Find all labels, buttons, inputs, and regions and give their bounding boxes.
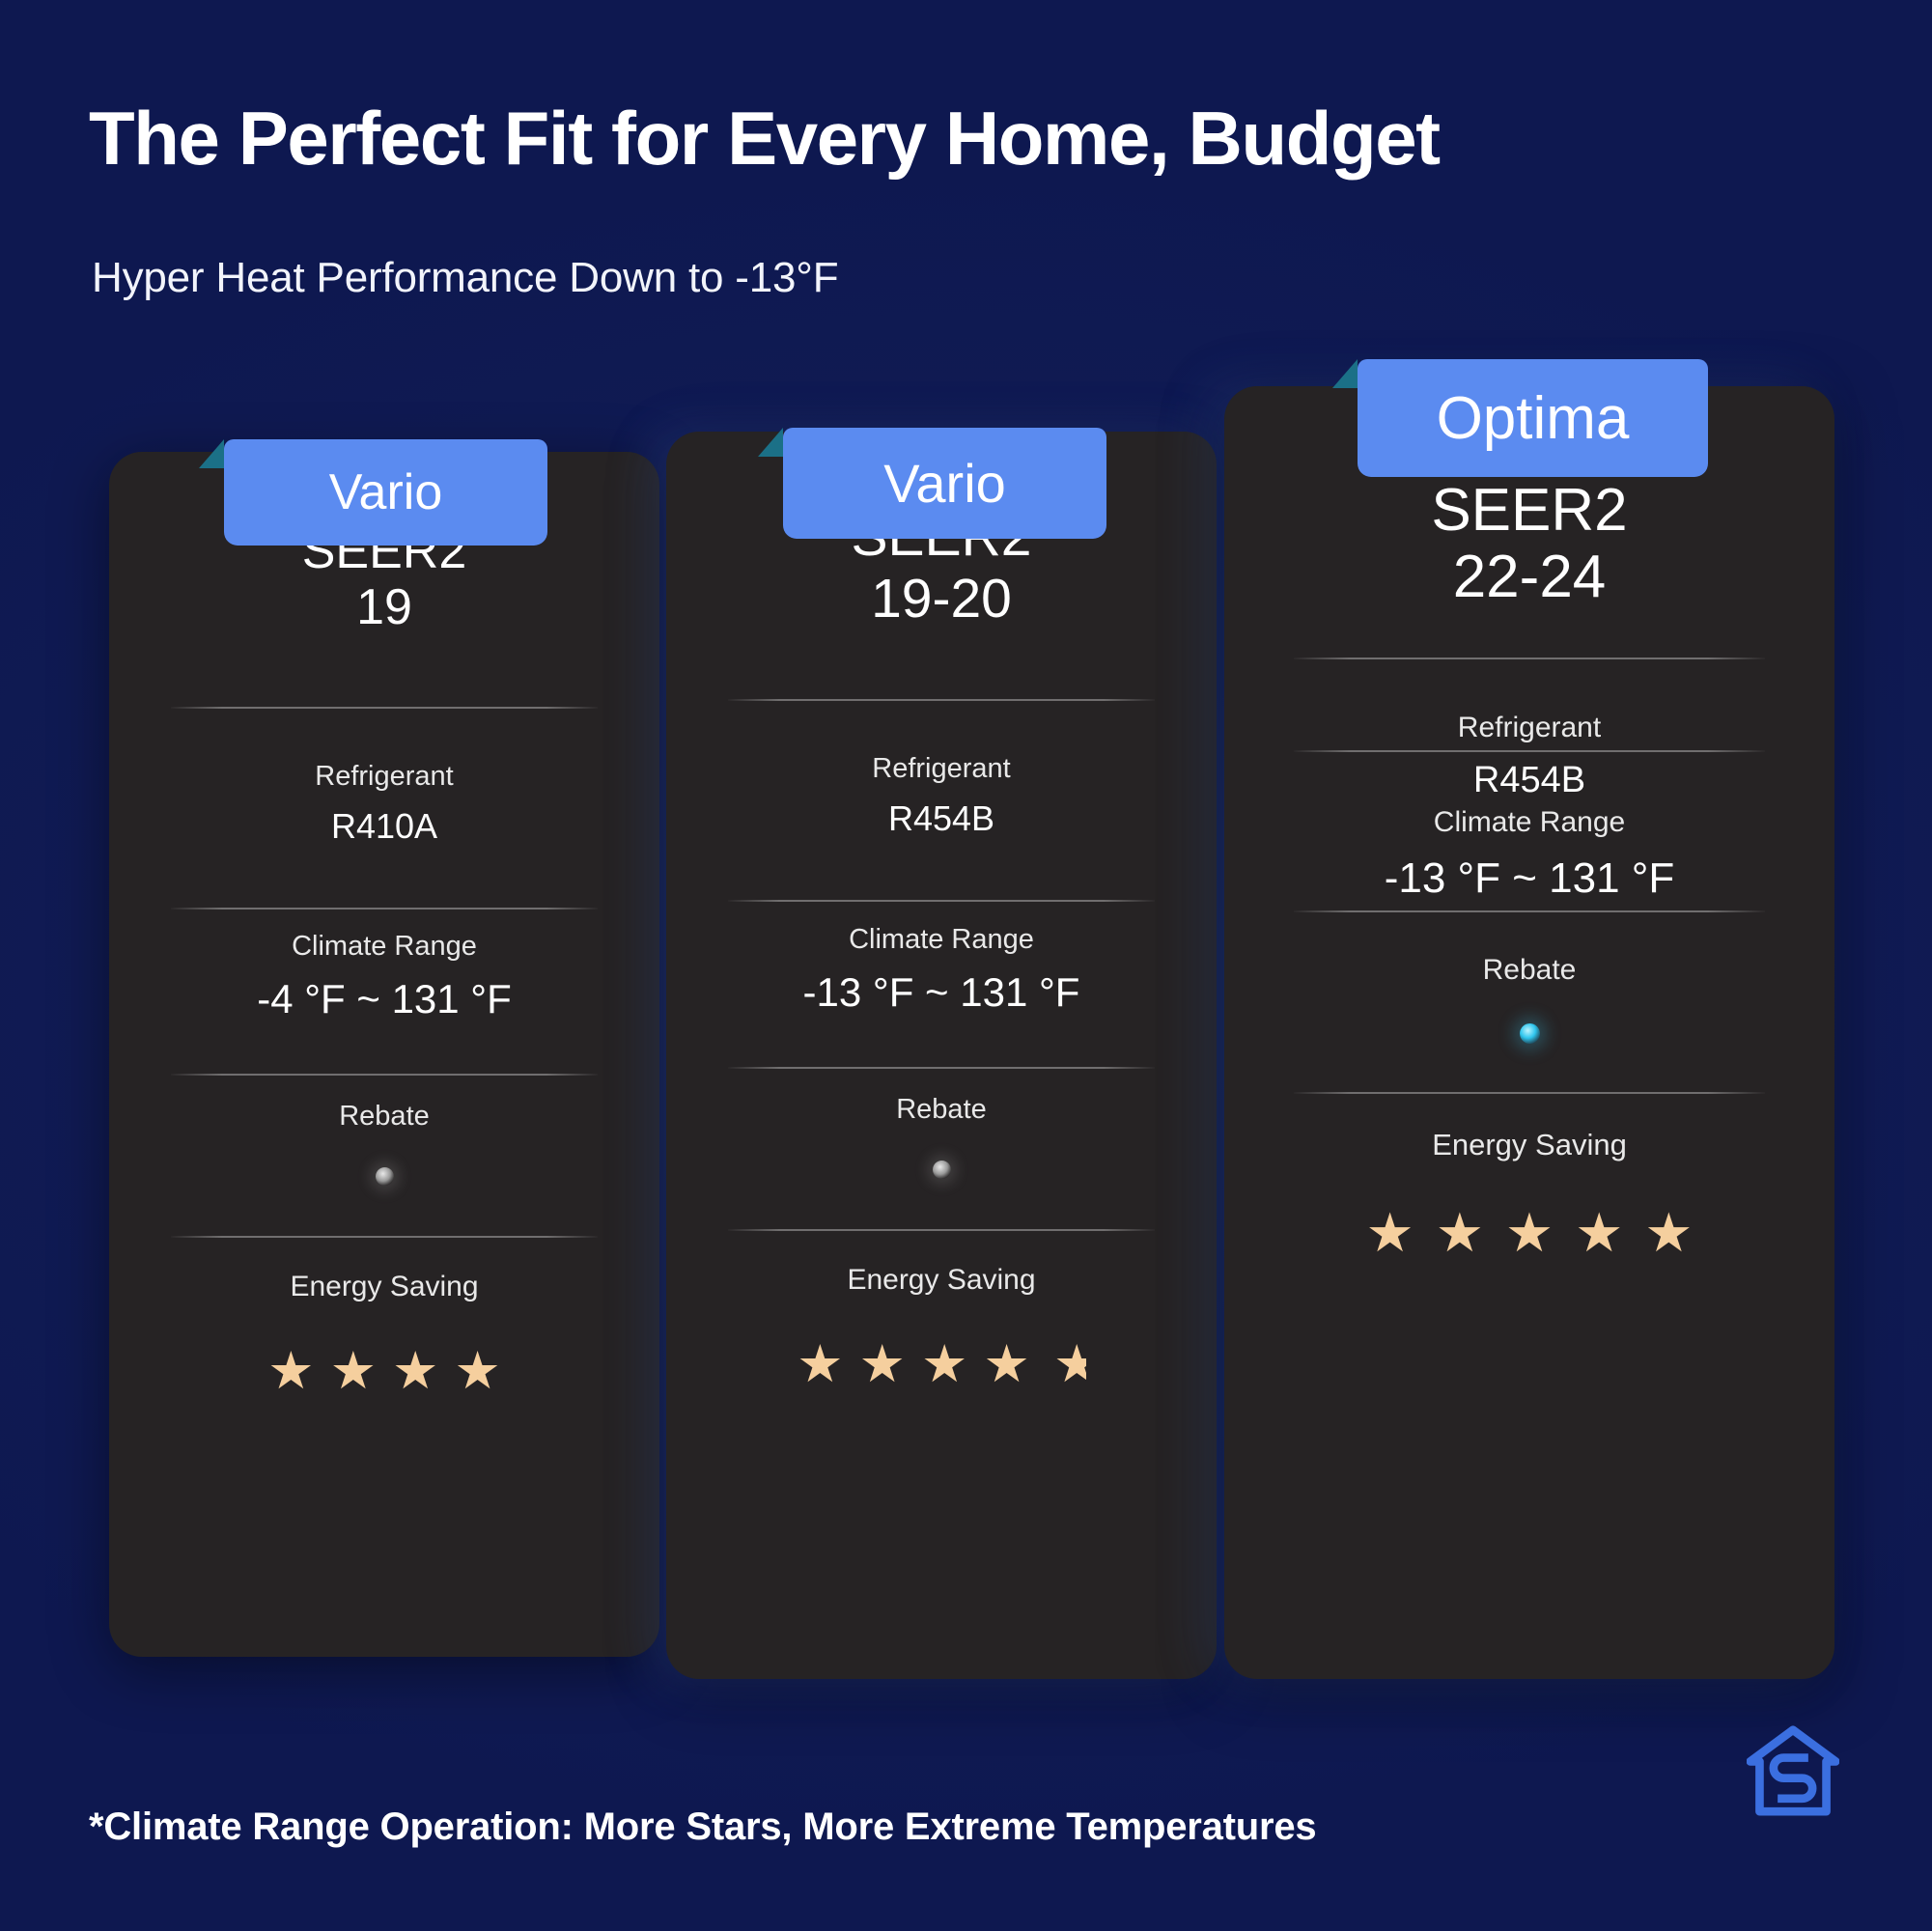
star-icon-full: ★ <box>921 1333 967 1394</box>
product-tab-vario-1[interactable]: Vario <box>224 439 547 546</box>
climate-range-label: Climate Range <box>666 924 1217 956</box>
refrigerant-label: Refrigerant <box>1224 712 1834 744</box>
divider <box>728 699 1155 701</box>
rebate-indicator-dot <box>933 1161 951 1179</box>
seer-label: SEER2 <box>1224 477 1834 544</box>
page-title: The Perfect Fit for Every Home, Budget <box>89 95 1440 182</box>
product-card-optima[interactable]: SEER2 22-24 Refrigerant R454B Climate Ra… <box>1224 386 1834 1679</box>
product-tab-vario-2[interactable]: Vario <box>783 428 1106 539</box>
product-card-vario-19[interactable]: SEER2 19 Refrigerant R410A Climate Range… <box>109 452 659 1657</box>
star-icon-full: ★ <box>983 1333 1029 1394</box>
star-icon-full: ★ <box>1505 1201 1554 1265</box>
energy-saving-label: Energy Saving <box>666 1264 1217 1297</box>
star-icon-full: ★ <box>392 1340 438 1401</box>
refrigerant-value: R454B <box>1224 760 1834 801</box>
house-logo-icon <box>1747 1724 1839 1817</box>
climate-range-label: Climate Range <box>1224 806 1834 839</box>
energy-saving-label: Energy Saving <box>109 1271 659 1303</box>
ribbon-fold-icon <box>758 428 783 457</box>
rebate-label: Rebate <box>1224 954 1834 987</box>
footnote: *Climate Range Operation: More Stars, Mo… <box>89 1805 1316 1849</box>
divider <box>1294 658 1765 659</box>
star-icon-full: ★ <box>859 1333 906 1394</box>
divider <box>171 1236 598 1238</box>
energy-saving-stars: ★★★★★ <box>1224 1201 1834 1265</box>
infographic-page: The Perfect Fit for Every Home, Budget H… <box>0 0 1932 1931</box>
divider <box>1294 910 1765 912</box>
refrigerant-label: Refrigerant <box>666 753 1217 785</box>
divider <box>171 1074 598 1076</box>
divider <box>1294 1092 1765 1094</box>
product-tab-optima[interactable]: Optima <box>1358 359 1708 477</box>
seer-value: 19-20 <box>666 569 1217 630</box>
product-tab-label: Vario <box>329 463 443 521</box>
refrigerant-label: Refrigerant <box>109 761 659 793</box>
energy-saving-stars: ★★★★★ <box>666 1333 1217 1394</box>
refrigerant-value: R454B <box>666 798 1217 839</box>
rebate-indicator-dot <box>1520 1023 1540 1044</box>
product-card-vario-19-20[interactable]: SEER2 19-20 Refrigerant R454B Climate Ra… <box>666 432 1217 1679</box>
divider <box>728 1229 1155 1231</box>
energy-saving-label: Energy Saving <box>1224 1128 1834 1162</box>
ribbon-fold-icon <box>1332 359 1358 388</box>
star-icon-full: ★ <box>1644 1201 1693 1265</box>
rebate-label: Rebate <box>666 1094 1217 1126</box>
refrigerant-value: R410A <box>109 806 659 847</box>
product-tab-label: Vario <box>883 452 1006 515</box>
climate-range-value: -13 °F ~ 131 °F <box>1224 854 1834 903</box>
star-icon-full: ★ <box>267 1340 314 1401</box>
divider <box>728 1067 1155 1069</box>
divider <box>171 707 598 709</box>
divider <box>171 908 598 910</box>
page-subtitle: Hyper Heat Performance Down to -13°F <box>92 254 838 302</box>
seer-value: 22-24 <box>1224 544 1834 610</box>
divider <box>728 900 1155 902</box>
climate-range-label: Climate Range <box>109 931 659 963</box>
star-icon-full: ★ <box>1575 1201 1623 1265</box>
energy-saving-stars: ★★★★ <box>109 1340 659 1401</box>
climate-range-value: -13 °F ~ 131 °F <box>666 969 1217 1016</box>
rebate-label: Rebate <box>109 1101 659 1133</box>
rebate-indicator-dot <box>376 1167 394 1186</box>
ribbon-fold-icon <box>199 439 224 468</box>
star-icon-full: ★ <box>1436 1201 1484 1265</box>
seer-value: 19 <box>109 579 659 635</box>
star-icon-half: ★ <box>1046 1333 1086 1394</box>
divider <box>1294 750 1765 752</box>
star-icon-full: ★ <box>330 1340 377 1401</box>
star-icon-full: ★ <box>1365 1201 1414 1265</box>
star-icon-full: ★ <box>797 1333 843 1394</box>
climate-range-value: -4 °F ~ 131 °F <box>109 976 659 1022</box>
star-icon-full: ★ <box>454 1340 500 1401</box>
product-tab-label: Optima <box>1437 384 1630 453</box>
